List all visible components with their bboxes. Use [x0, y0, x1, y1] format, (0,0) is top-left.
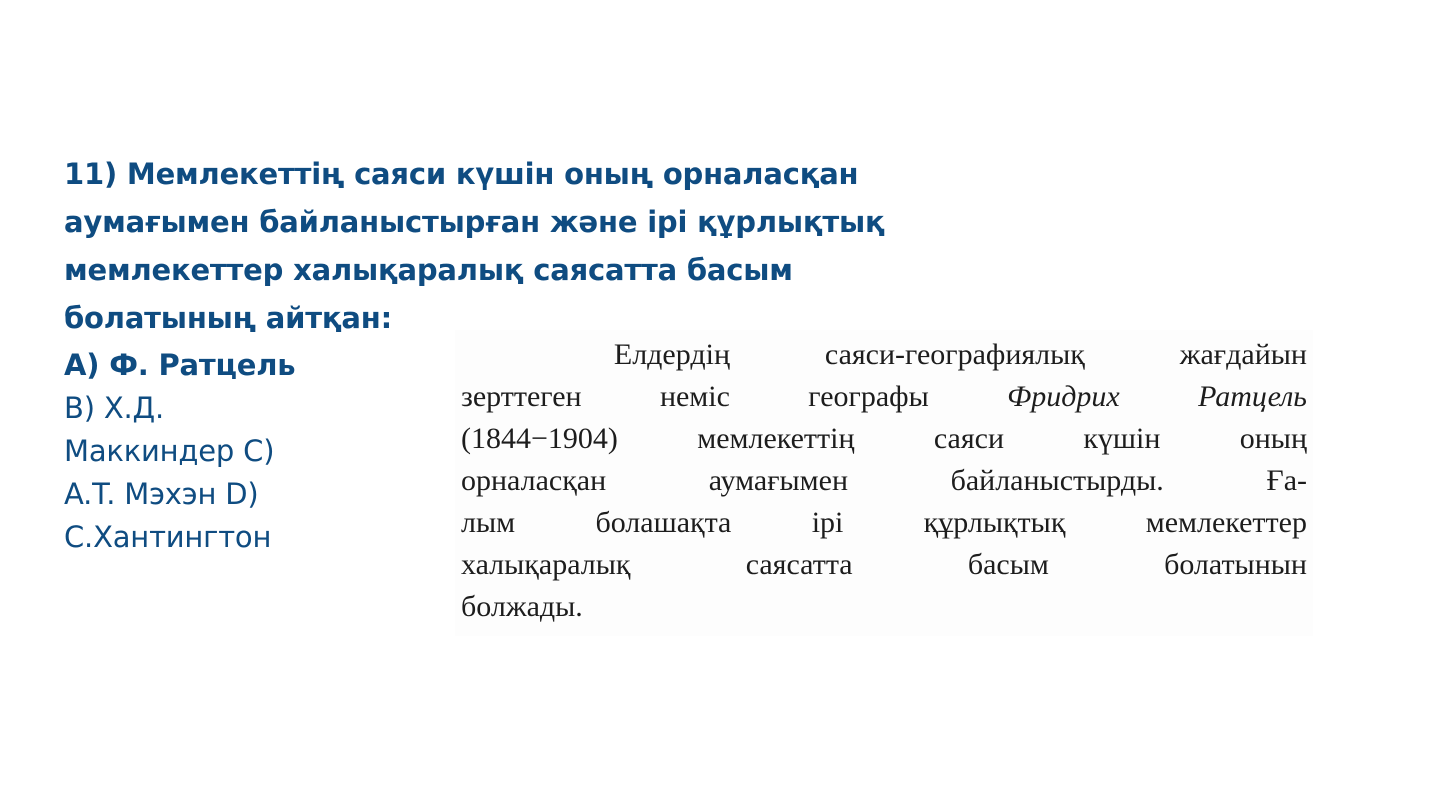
scan-word: орналасқан	[461, 460, 606, 502]
scan-word: саяси-географиялық	[825, 334, 1085, 376]
scan-line: болжады.	[461, 586, 1307, 628]
scan-paragraph: Елдердіңсаяси-географиялықжағдайынзертте…	[461, 334, 1307, 628]
scan-word: күшін	[1083, 418, 1160, 460]
answer-options-list: A) Ф. Ратцель B) Х.Д. Маккиндер C) A.T. …	[64, 344, 464, 559]
question-text: 11) Мемлекеттің саяси күшін оның орналас…	[64, 150, 464, 342]
scan-word: Елдердің	[614, 334, 730, 376]
question-line-3: мемлекеттер халықаралық саясатта басым	[64, 246, 464, 294]
answer-option-a[interactable]: A) Ф. Ратцель	[64, 344, 464, 387]
scan-line: халықаралықсаясаттабасымболатынын	[461, 544, 1307, 586]
scan-word: Ға-	[1266, 460, 1307, 502]
scan-word: мемлекеттер	[1146, 502, 1307, 544]
question-line-4: болатының айтқан:	[64, 294, 464, 342]
scan-word: болатынын	[1164, 544, 1307, 586]
scan-word: байланыстырды.	[951, 460, 1164, 502]
scan-word: құрлықтық	[924, 502, 1066, 544]
scan-word: ірі	[812, 502, 844, 544]
scan-line: (1844−1904)мемлекеттіңсаясикүшіноның	[461, 418, 1307, 460]
scan-word: (1844−1904)	[461, 418, 618, 460]
question-line-1: 11) Мемлекеттің саяси күшін оның орналас…	[64, 150, 464, 198]
scan-word: болашақта	[595, 502, 731, 544]
question-and-options-column: 11) Мемлекеттің саяси күшін оның орналас…	[64, 150, 464, 559]
scan-word-italic: Ратцель	[1198, 376, 1307, 418]
scan-line: Елдердіңсаяси-географиялықжағдайын	[461, 334, 1307, 376]
scanned-textbook-excerpt: Елдердіңсаяси-географиялықжағдайынзертте…	[455, 330, 1313, 636]
scan-word: аумағымен	[709, 460, 848, 502]
question-line-2: аумағымен байланыстырған және ірі құрлық…	[64, 198, 464, 246]
scan-word: саясатта	[746, 544, 853, 586]
answer-option-b[interactable]: B) Х.Д.	[64, 387, 464, 430]
slide-canvas: 11) Мемлекеттің саяси күшін оның орналас…	[0, 0, 1440, 810]
answer-option-c-continued[interactable]: A.T. Мэхэн D)	[64, 473, 464, 516]
scan-line: зерттегеннемісгеографыФридрихРатцель	[461, 376, 1307, 418]
scan-word: географы	[808, 376, 928, 418]
scan-word: неміс	[660, 376, 730, 418]
scan-word: зерттеген	[461, 376, 582, 418]
scan-word: мемлекеттің	[697, 418, 854, 460]
scan-word: саяси	[934, 418, 1004, 460]
scan-word: оның	[1240, 418, 1307, 460]
scan-line: орналасқанаумағыменбайланыстырды.Ға-	[461, 460, 1307, 502]
scan-word: лым	[461, 502, 515, 544]
scan-word: жағдайын	[1180, 334, 1307, 376]
answer-option-d-continued[interactable]: С.Хантингтон	[64, 516, 464, 559]
scan-word: халықаралық	[461, 544, 630, 586]
answer-option-b-continued[interactable]: Маккиндер C)	[64, 430, 464, 473]
scan-line: лымболашақтаіріқұрлықтықмемлекеттер	[461, 502, 1307, 544]
scan-word: басым	[968, 544, 1049, 586]
scan-word: болжады.	[461, 586, 583, 628]
scan-word-italic: Фридрих	[1007, 376, 1120, 418]
